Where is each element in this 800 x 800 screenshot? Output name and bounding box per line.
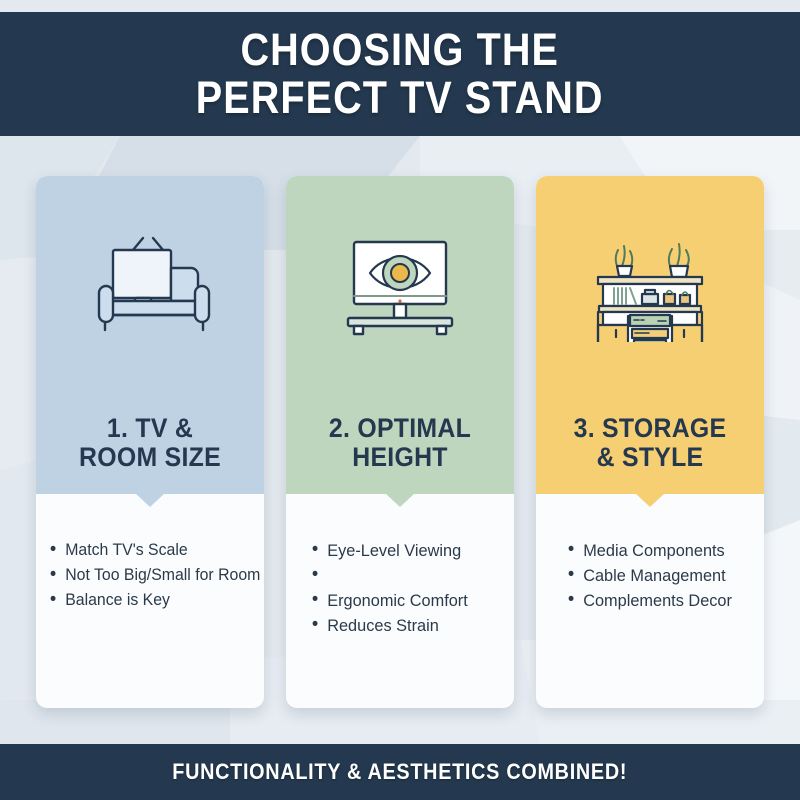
list-item: Match TV's Scale: [46, 538, 250, 563]
card-3-body: Media Components Cable Management Comple…: [536, 494, 764, 708]
card-1-bullet-list: Match TV's Scale Not Too Big/Small for R…: [46, 538, 258, 613]
card-3-heading-line-2: & STYLE: [551, 443, 750, 472]
card-1-heading: 1. TV & ROOM SIZE: [45, 414, 255, 472]
card-2-body: Eye-Level Viewing Ergonomic Comfort Redu…: [286, 494, 514, 708]
card-2-header: 2. OPTIMAL HEIGHT: [286, 176, 514, 494]
page-title: CHOOSING THE PERFECT TV STAND: [196, 26, 604, 122]
list-item: Complements Decor: [564, 588, 750, 613]
card-optimal-height[interactable]: 2. OPTIMAL HEIGHT Eye-Level Viewing Ergo…: [286, 176, 514, 708]
card-2-bullet-list: Eye-Level Viewing Ergonomic Comfort Redu…: [308, 538, 508, 638]
card-1-body: Match TV's Scale Not Too Big/Small for R…: [36, 494, 264, 708]
infographic-poster: CHOOSING THE PERFECT TV STAND: [0, 0, 800, 800]
list-item: Eye-Level Viewing: [308, 538, 500, 563]
eye-on-monitor-icon: [340, 226, 460, 346]
list-item: Reduces Strain: [308, 613, 500, 638]
list-item: Balance is Key: [46, 588, 250, 613]
card-storage-style[interactable]: 3. STORAGE & STYLE Media Components Cabl…: [536, 176, 764, 708]
tv-and-sofa-icon: [85, 226, 215, 346]
card-3-notch: [635, 493, 665, 507]
card-2-heading-line-2: HEIGHT: [301, 443, 500, 472]
card-tv-room-size[interactable]: 1. TV & ROOM SIZE Match TV's Scale Not T…: [36, 176, 264, 708]
page-title-line-1: CHOOSING THE: [196, 26, 604, 74]
card-3-heading: 3. STORAGE & STYLE: [545, 414, 755, 472]
card-1-heading-line-2: ROOM SIZE: [51, 443, 250, 472]
list-item: [308, 563, 500, 588]
list-item: Ergonomic Comfort: [308, 588, 500, 613]
media-console-icon: [584, 226, 716, 346]
card-3-heading-line-1: 3. STORAGE: [551, 414, 750, 443]
footer-banner: FUNCTIONALITY & AESTHETICS COMBINED!: [0, 744, 800, 800]
card-3-bullet-list: Media Components Cable Management Comple…: [564, 538, 758, 613]
card-3-header: 3. STORAGE & STYLE: [536, 176, 764, 494]
card-1-notch: [135, 493, 165, 507]
card-2-heading-line-1: 2. OPTIMAL: [301, 414, 500, 443]
footer-tagline: FUNCTIONALITY & AESTHETICS COMBINED!: [173, 759, 628, 785]
list-item: Cable Management: [564, 563, 750, 588]
list-item: Media Components: [564, 538, 750, 563]
card-2-heading: 2. OPTIMAL HEIGHT: [295, 414, 505, 472]
header-banner: CHOOSING THE PERFECT TV STAND: [0, 12, 800, 136]
page-title-line-2: PERFECT TV STAND: [196, 74, 604, 122]
list-item: Not Too Big/Small for Room: [46, 563, 250, 588]
card-2-notch: [385, 493, 415, 507]
steps-container: 1. TV & ROOM SIZE Match TV's Scale Not T…: [36, 176, 764, 708]
card-1-header: 1. TV & ROOM SIZE: [36, 176, 264, 494]
card-1-heading-line-1: 1. TV &: [51, 414, 250, 443]
